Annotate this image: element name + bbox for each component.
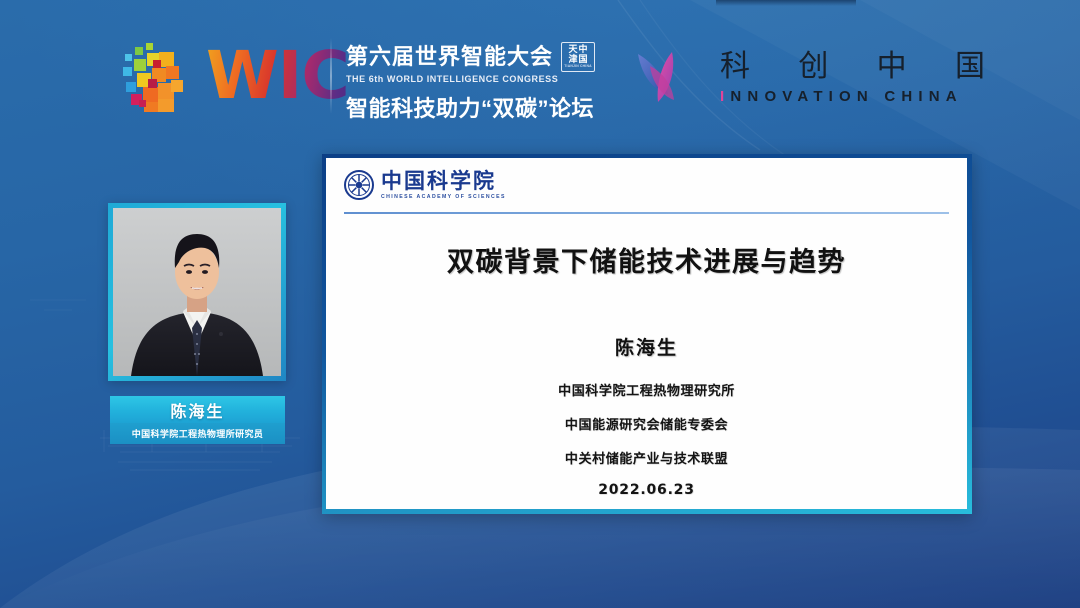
header-divider bbox=[330, 38, 332, 114]
affiliation-line: 中国科学院工程热物理研究所 bbox=[326, 380, 967, 399]
innovation-china-en-rest: NNOVATION CHINA bbox=[730, 88, 962, 105]
tianjin-china-badge: 天中津国 TIANJIN CHINA bbox=[561, 42, 595, 72]
speaker-video-image bbox=[113, 208, 281, 376]
event-header: WIC 第六届世界智能大会 天中津国 TIANJIN CHINA THE 6th… bbox=[0, 0, 1080, 150]
tianjin-badge-en: TIANJIN CHINA bbox=[564, 65, 591, 69]
presentation-slide-region[interactable]: 中国科学院 CHINESE ACADEMY OF SCIENCES 双碳背景下储… bbox=[322, 154, 972, 514]
cas-name-en: CHINESE ACADEMY OF SCIENCES bbox=[381, 195, 506, 200]
speaker-name: 陈海生 bbox=[170, 398, 224, 422]
innovation-china-text: 科 创 中 国 INNOVATION CHINA bbox=[716, 52, 1005, 104]
speaker-name-band: 陈海生 bbox=[110, 396, 285, 423]
slide-author-name: 陈海生 bbox=[326, 333, 967, 360]
congress-title-cn: 第六届世界智能大会 bbox=[346, 44, 553, 69]
speaker-name-card: 陈海生 中国科学院工程热物理所研究员 bbox=[110, 396, 285, 444]
cas-name-block: 中国科学院 CHINESE ACADEMY OF SCIENCES bbox=[381, 171, 506, 200]
slide-date: 2022.06.23 bbox=[326, 482, 967, 498]
innovation-china-butterfly-icon bbox=[632, 48, 694, 108]
slide-title: 双碳背景下储能技术进展与趋势 bbox=[326, 240, 967, 279]
tianjin-badge-chars: 天中津国 bbox=[569, 45, 588, 64]
slide-canvas: 中国科学院 CHINESE ACADEMY OF SCIENCES 双碳背景下储… bbox=[326, 158, 967, 509]
innovation-china-lockup: 科 创 中 国 INNOVATION CHINA bbox=[632, 48, 1005, 108]
congress-title-row: 第六届世界智能大会 天中津国 TIANJIN CHINA bbox=[346, 42, 595, 72]
affiliation-line: 中关村储能产业与技术联盟 bbox=[326, 448, 967, 467]
wic-logo-lockup: WIC bbox=[122, 38, 353, 114]
affiliation-line: 中国能源研究会储能专委会 bbox=[326, 414, 967, 433]
speaker-role-band: 中国科学院工程热物理所研究员 bbox=[110, 423, 285, 444]
livestream-stage: WIC 第六届世界智能大会 天中津国 TIANJIN CHINA THE 6th… bbox=[0, 0, 1080, 608]
forum-title: 智能科技助力“双碳”论坛 bbox=[346, 91, 595, 123]
speaker-role: 中国科学院工程热物理所研究员 bbox=[132, 427, 264, 440]
wic-pixel-head-icon bbox=[122, 38, 196, 114]
innovation-china-cn: 科 创 中 国 bbox=[716, 52, 1005, 82]
slide-header-rule bbox=[344, 212, 949, 214]
slide-affiliation-list: 中国科学院工程热物理研究所 中国能源研究会储能专委会 中关村储能产业与技术联盟 … bbox=[326, 380, 967, 509]
cas-emblem-icon bbox=[344, 170, 374, 200]
cas-name-cn: 中国科学院 bbox=[381, 169, 496, 193]
innovation-china-en-lead: I bbox=[720, 88, 730, 105]
speaker-video-feed[interactable] bbox=[108, 203, 286, 381]
innovation-china-en: INNOVATION CHINA bbox=[716, 89, 1005, 104]
cas-logo: 中国科学院 CHINESE ACADEMY OF SCIENCES bbox=[344, 170, 506, 200]
wic-title-block: 第六届世界智能大会 天中津国 TIANJIN CHINA THE 6th WOR… bbox=[346, 42, 595, 123]
congress-title-en: THE 6th WORLD INTELLIGENCE CONGRESS bbox=[346, 74, 595, 84]
slide-frame: 中国科学院 CHINESE ACADEMY OF SCIENCES 双碳背景下储… bbox=[322, 154, 972, 514]
